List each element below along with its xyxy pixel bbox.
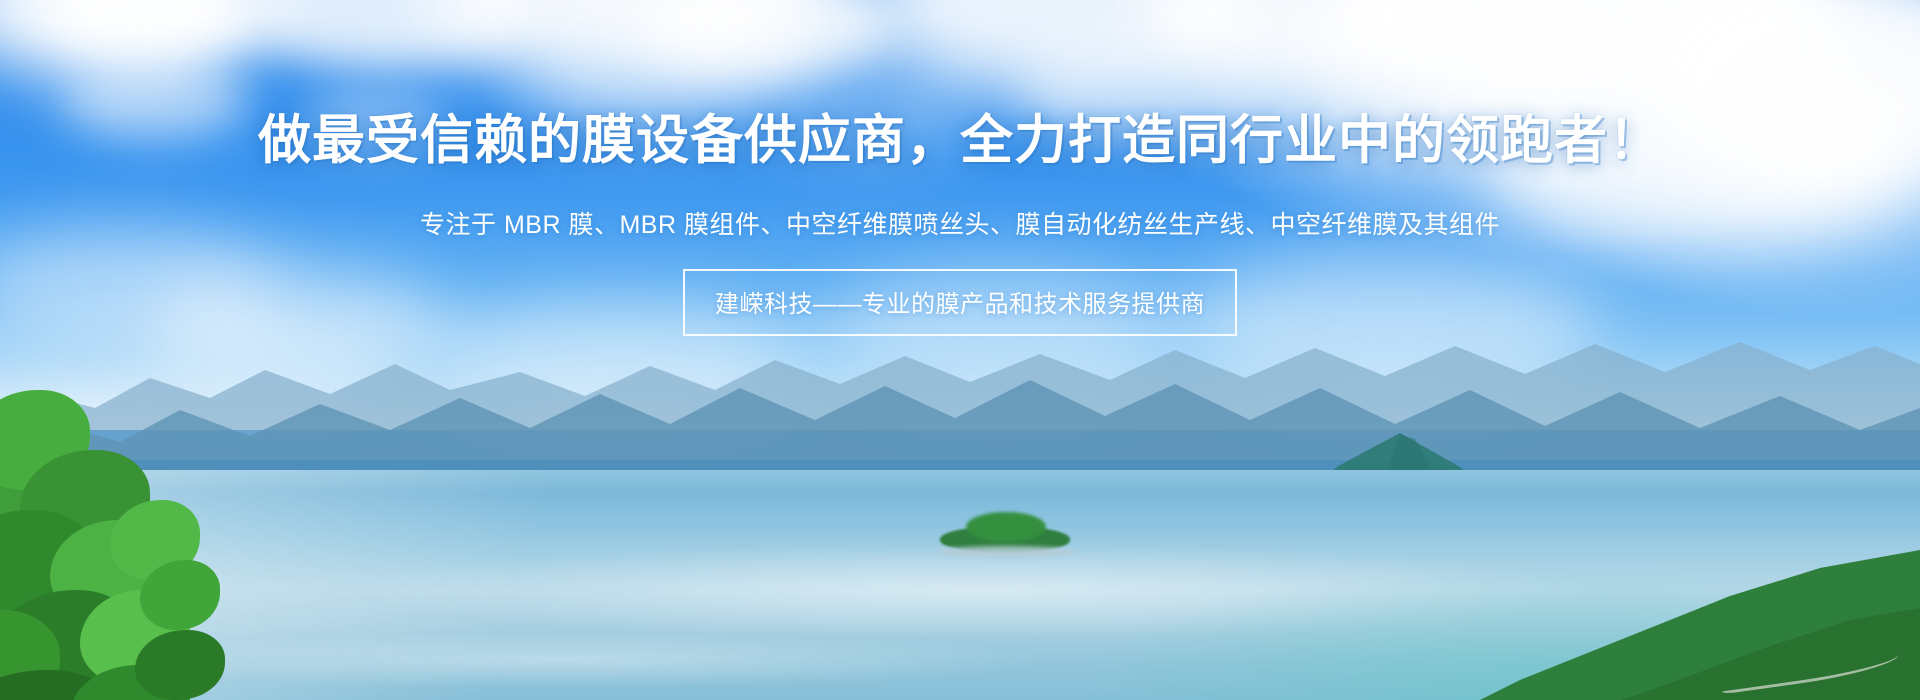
banner-content: 做最受信赖的膜设备供应商，全力打造同行业中的领跑者！ 专注于 MBR 膜、MBR… (0, 0, 1920, 700)
banner-headline: 做最受信赖的膜设备供应商，全力打造同行业中的领跑者！ (258, 98, 1662, 174)
hero-banner: 做最受信赖的膜设备供应商，全力打造同行业中的领跑者！ 专注于 MBR 膜、MBR… (0, 0, 1920, 700)
banner-tagline-box: 建嵘科技——专业的膜产品和技术服务提供商 (683, 269, 1237, 336)
banner-subtitle: 专注于 MBR 膜、MBR 膜组件、中空纤维膜喷丝头、膜自动化纺丝生产线、中空纤… (420, 205, 1500, 241)
